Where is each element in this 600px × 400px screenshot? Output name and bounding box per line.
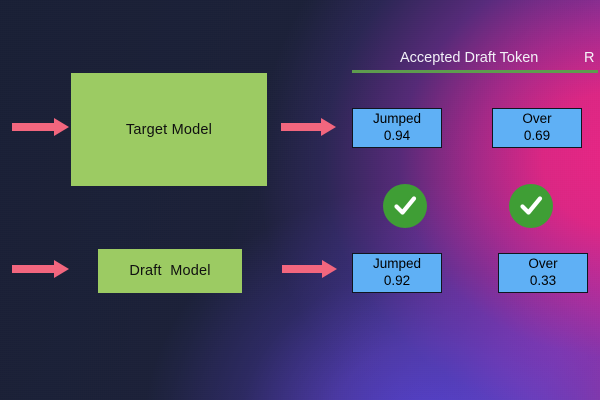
target-token-2-prob: 0.69 (524, 128, 550, 145)
arrow-target-model-to-tokens (281, 116, 337, 138)
draft-token-1-prob: 0.92 (384, 273, 410, 290)
target-model-node[interactable]: Target Model (71, 73, 267, 186)
draft-token-2-prob: 0.33 (530, 273, 556, 290)
target-token-box-2[interactable]: Over 0.69 (492, 108, 582, 148)
legend-accepted-rule (352, 70, 598, 73)
target-token-box-1[interactable]: Jumped 0.94 (352, 108, 442, 148)
arrow-input-to-draft-model (12, 258, 70, 280)
draft-token-box-2[interactable]: Over 0.33 (498, 253, 588, 293)
target-model-label: Target Model (126, 122, 212, 138)
target-token-2-word: Over (522, 111, 551, 128)
draft-model-label: Draft Model (129, 263, 210, 279)
speculative-decoding-diagram: Accepted Draft Token R Target Model Draf… (0, 0, 600, 400)
target-token-1-word: Jumped (373, 111, 421, 128)
draft-token-box-1[interactable]: Jumped 0.92 (352, 253, 442, 293)
draft-token-2-word: Over (528, 256, 557, 273)
arrow-input-to-target-model (12, 116, 70, 138)
legend-rejected-draft-token-label: R (584, 50, 600, 66)
accepted-check-icon-1 (383, 184, 427, 228)
accepted-check-icon-2 (509, 184, 553, 228)
arrow-draft-model-to-tokens (282, 258, 338, 280)
draft-model-node[interactable]: Draft Model (98, 249, 242, 293)
legend-accepted-draft-token-label: Accepted Draft Token (400, 50, 538, 66)
draft-token-1-word: Jumped (373, 256, 421, 273)
target-token-1-prob: 0.94 (384, 128, 410, 145)
